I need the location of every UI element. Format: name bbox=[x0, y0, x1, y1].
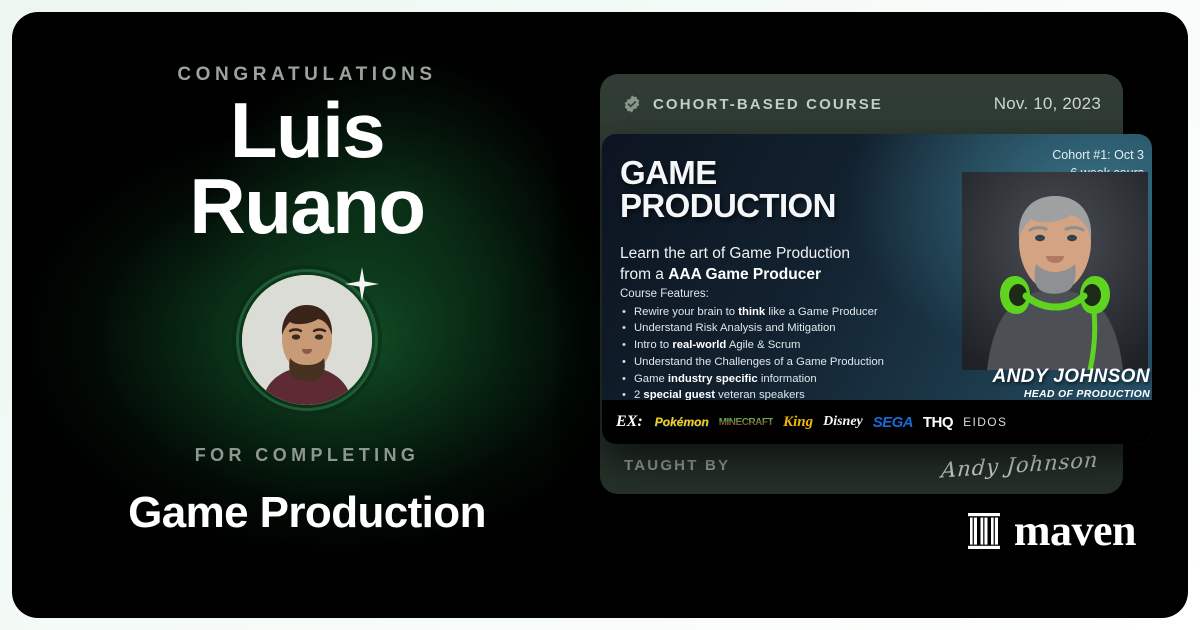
subtitle-prefix: from a bbox=[620, 266, 668, 283]
avatar bbox=[236, 269, 378, 411]
avatar-ring bbox=[236, 269, 378, 411]
sega-logo: SEGA bbox=[873, 414, 913, 431]
recipient-last-name: Ruano bbox=[189, 168, 424, 244]
instructor-portrait-illustration bbox=[962, 172, 1148, 370]
logos-prefix-label: EX: bbox=[616, 413, 643, 431]
thumbnail-instructor-name: ANDY JOHNSON HEAD OF PRODUCTION bbox=[992, 366, 1150, 400]
disney-logo: Disney bbox=[823, 414, 863, 430]
feature-bold: think bbox=[738, 306, 765, 318]
feature-item: Rewire your brain to think like a Game P… bbox=[634, 307, 884, 318]
cohort-dates: Cohort #1: Oct 3 bbox=[1052, 146, 1144, 164]
feature-pre: Rewire your brain to bbox=[634, 306, 738, 318]
instructor-photo bbox=[962, 172, 1148, 370]
subtitle-bold: AAA Game Producer bbox=[668, 266, 821, 283]
king-logo: King bbox=[783, 414, 813, 431]
eidos-logo: EIDOS bbox=[963, 415, 1007, 429]
thumbnail-features: Course Features: Rewire your brain to th… bbox=[620, 289, 884, 407]
features-list: Rewire your brain to think like a Game P… bbox=[620, 307, 884, 402]
feature-post: information bbox=[758, 373, 817, 385]
thumbnail-title-line1: GAME bbox=[620, 156, 836, 189]
certificate-page: CONGRATULATIONS Luis Ruano bbox=[0, 0, 1200, 630]
feature-pre: Understand the Challenges of a Game Prod… bbox=[634, 356, 884, 368]
feature-post: Agile & Scrum bbox=[726, 339, 800, 351]
maven-columns-icon bbox=[967, 513, 1001, 549]
feature-pre: Intro to bbox=[634, 339, 672, 351]
taught-by-label: TAUGHT BY bbox=[624, 457, 730, 474]
thumbnail-subtitle: Learn the art of Game Production from a … bbox=[620, 244, 850, 285]
maven-logo[interactable]: maven bbox=[967, 505, 1136, 556]
certificate-left-column: CONGRATULATIONS Luis Ruano bbox=[12, 12, 602, 618]
thq-logo: THQ bbox=[923, 414, 953, 431]
features-heading: Course Features: bbox=[620, 289, 884, 301]
course-title: Game Production bbox=[128, 488, 486, 538]
thumbnail-company-logos: EX: Pokémon MINECRAFT King Disney SEGA T… bbox=[602, 400, 1152, 444]
feature-pre: Understand Risk Analysis and Mitigation bbox=[634, 322, 836, 334]
cohort-based-course-label: COHORT-BASED COURSE bbox=[653, 96, 883, 113]
recipient-first-name: Luis bbox=[189, 92, 424, 168]
feature-post: like a Game Producer bbox=[765, 306, 877, 318]
thumbnail-title: GAME PRODUCTION bbox=[620, 156, 836, 222]
certificate-card: CONGRATULATIONS Luis Ruano bbox=[12, 12, 1188, 618]
feature-item: Game industry specific information bbox=[634, 374, 884, 385]
thumbnail-title-line2: PRODUCTION bbox=[620, 189, 836, 222]
completion-date: Nov. 10, 2023 bbox=[994, 94, 1101, 114]
feature-item: Understand Risk Analysis and Mitigation bbox=[634, 323, 884, 334]
minecraft-logo: MINECRAFT bbox=[719, 417, 773, 428]
maven-wordmark: maven bbox=[1014, 505, 1136, 556]
congratulations-label: CONGRATULATIONS bbox=[177, 64, 436, 86]
thumbnail-subtitle-line1: Learn the art of Game Production bbox=[620, 244, 850, 265]
course-card-footer: TAUGHT BY Andy Johnson bbox=[600, 436, 1123, 494]
recipient-name: Luis Ruano bbox=[189, 92, 424, 245]
feature-item: Intro to real-world Agile & Scrum bbox=[634, 340, 884, 351]
course-card-header: COHORT-BASED COURSE Nov. 10, 2023 bbox=[600, 74, 1123, 134]
thumbnail-subtitle-line2: from a AAA Game Producer bbox=[620, 265, 850, 286]
feature-bold: real-world bbox=[672, 339, 726, 351]
course-thumbnail[interactable]: GAME PRODUCTION Learn the art of Game Pr… bbox=[602, 134, 1152, 444]
instructor-name: ANDY JOHNSON bbox=[992, 366, 1150, 388]
feature-pre: Game bbox=[634, 373, 668, 385]
pokemon-logo: Pokémon bbox=[655, 415, 709, 429]
feature-item: Understand the Challenges of a Game Prod… bbox=[634, 357, 884, 368]
instructor-signature: Andy Johnson bbox=[941, 447, 1100, 482]
feature-bold: industry specific bbox=[668, 373, 758, 385]
for-completing-label: FOR COMPLETING bbox=[195, 445, 420, 466]
verified-badge-icon bbox=[622, 94, 642, 114]
